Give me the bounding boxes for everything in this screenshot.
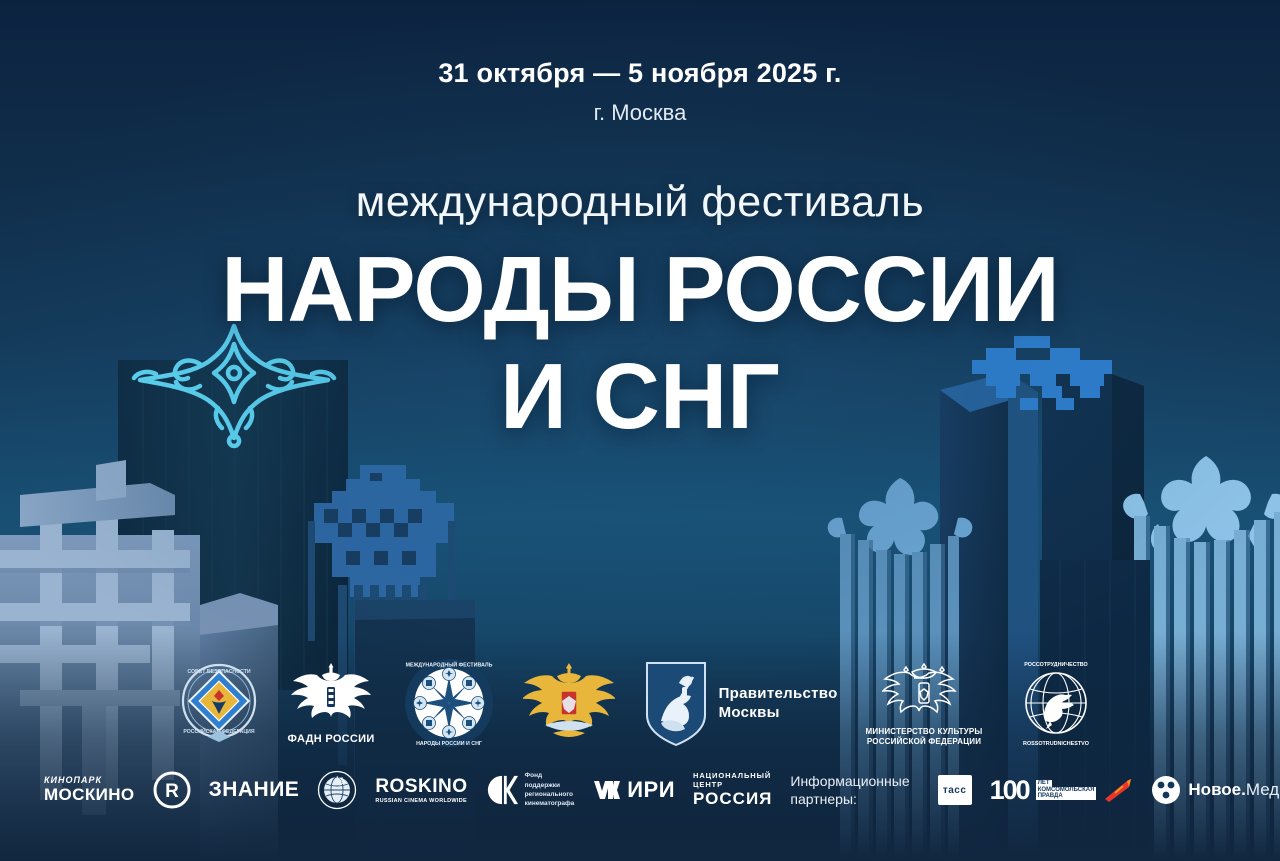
partner-fprk[interactable]: Фонд поддержки регионального кинематогра…	[486, 771, 577, 809]
fprk-label: Фонд поддержки регионального кинематогра…	[525, 771, 577, 809]
moskino-kinopark-label: КИНОПАРК	[44, 775, 102, 785]
znanie-label: ЗНАНИЕ	[209, 778, 300, 802]
partner-globe-emblem[interactable]	[317, 770, 357, 810]
roskino-tagline: RUSSIAN CINEMA WORLDWIDE	[375, 798, 467, 804]
security-council-icon: СОВЕТ БЕЗОПАСНОСТИ РОССИЙСКАЯ ФЕДЕРАЦИЯ	[178, 657, 260, 749]
festival-emblem-icon: МЕЖДУНАРОДНЫЙ ФЕСТИВАЛЬ НАРОДЫ РОССИИ И …	[403, 657, 495, 749]
festival-title-line-2: И СНГ	[0, 352, 1280, 440]
logo-rossotrudnichestvo[interactable]: РОССОТРУДНИЧЕСТВО ROSSOTRUDNICHESTVO	[1010, 657, 1102, 749]
ministry-of-culture-label: МИНИСТЕРСТВО КУЛЬТУРЫ РОССИЙСКОЙ ФЕДЕРАЦ…	[866, 727, 983, 747]
partner-komsomolskaya-pravda[interactable]: 100 ЛЕТ КОМСОМОЛЬСКАЯ ПРАВДА	[990, 775, 1134, 806]
partner-r-circle[interactable]: R	[153, 771, 191, 809]
tass-label: тасс	[938, 775, 972, 805]
svg-text:ROSSOTRUDNICHESTVO: ROSSOTRUDNICHESTVO	[1024, 741, 1090, 747]
svg-text:R: R	[165, 781, 179, 802]
ministry-of-culture-eagle-icon	[882, 659, 966, 727]
iri-mark-icon	[594, 779, 620, 801]
logo-moscow-government[interactable]: Правительство Москвы	[643, 659, 838, 747]
svg-text:РОССОТРУДНИЧЕСТВО: РОССОТРУДНИЧЕСТВО	[1025, 662, 1088, 668]
partner-novoe-media[interactable]: Новое.Медиа	[1151, 775, 1280, 805]
partner-national-center-russia[interactable]: НАЦИОНАЛЬНЫЙ ЦЕНТР РОССИЯ	[693, 771, 772, 809]
logo-ministry-of-culture[interactable]: МИНИСТЕРСТВО КУЛЬТУРЫ РОССИЙСКОЙ ФЕДЕРАЦ…	[866, 659, 983, 747]
logo-fadn[interactable]: ФАДН РОССИИ	[288, 659, 375, 747]
main-logo-row: СОВЕТ БЕЗОПАСНОСТИ РОССИЙСКАЯ ФЕДЕРАЦИЯ	[0, 648, 1280, 758]
partner-tass[interactable]: тасс	[938, 775, 972, 805]
russia-label: РОССИЯ	[693, 789, 772, 809]
fadn-eagle-icon	[288, 659, 374, 733]
partner-iri[interactable]: ИРИ	[594, 777, 675, 803]
logo-security-council[interactable]: СОВЕТ БЕЗОПАСНОСТИ РОССИЙСКАЯ ФЕДЕРАЦИЯ	[178, 657, 260, 749]
national-center-label: НАЦИОНАЛЬНЫЙ ЦЕНТР	[693, 771, 772, 789]
iri-label: ИРИ	[627, 777, 675, 803]
kp-let-label: ЛЕТ	[1036, 780, 1052, 787]
festival-title-line-1: НАРОДЫ РОССИИ	[0, 245, 1280, 333]
novoe-label: Новое.	[1188, 780, 1245, 799]
r-circle-icon: R	[153, 771, 191, 809]
novoe-media-label: Новое.Медиа	[1188, 780, 1280, 800]
partner-moskino[interactable]: КИНОПАРК МОСКИНО	[44, 775, 135, 805]
novoe-media-icon	[1151, 775, 1181, 805]
partner-roskino[interactable]: ROSKINO RUSSIAN CINEMA WORLDWIDE	[375, 776, 467, 804]
partner-znanie[interactable]: ЗНАНИЕ	[209, 778, 300, 802]
kp-name-label: КОМСОМОЛЬСКАЯ ПРАВДА	[1036, 787, 1097, 801]
fadn-label: ФАДН РОССИИ	[288, 733, 375, 747]
rossotrudnichestvo-globe-icon: РОССОТРУДНИЧЕСТВО ROSSOTRUDNICHESTVO	[1010, 657, 1102, 749]
svg-text:НАРОДЫ РОССИИ И СНГ: НАРОДЫ РОССИИ И СНГ	[416, 741, 482, 747]
media-label: Медиа	[1246, 780, 1280, 799]
roskino-label: ROSKINO	[375, 776, 467, 798]
moscow-government-label: Правительство Москвы	[719, 684, 838, 723]
poster-canvas: 31 октября — 5 ноября 2025 г. г. Москва …	[0, 0, 1280, 861]
logo-festival-emblem[interactable]: МЕЖДУНАРОДНЫЙ ФЕСТИВАЛЬ НАРОДЫ РОССИИ И …	[403, 657, 495, 749]
globe-emblem-icon	[317, 770, 357, 810]
festival-kicker: международный фестиваль	[0, 178, 1280, 227]
fprk-icon	[486, 773, 518, 807]
info-partners-label: Информационные партнеры:	[790, 772, 909, 808]
partner-logo-row: КИНОПАРК МОСКИНО R ЗНАНИЕ	[0, 762, 1280, 818]
festival-dates: 31 октября — 5 ноября 2025 г.	[0, 58, 1280, 89]
logo-russia-coat-of-arms[interactable]	[523, 659, 615, 747]
russia-coat-of-arms-icon	[523, 659, 615, 747]
festival-city: г. Москва	[0, 100, 1280, 126]
moscow-shield-icon	[643, 659, 709, 747]
kp-arrow-icon	[1103, 777, 1133, 803]
moskino-label: МОСКИНО	[44, 785, 135, 805]
kp-years-label: 100	[990, 775, 1029, 806]
